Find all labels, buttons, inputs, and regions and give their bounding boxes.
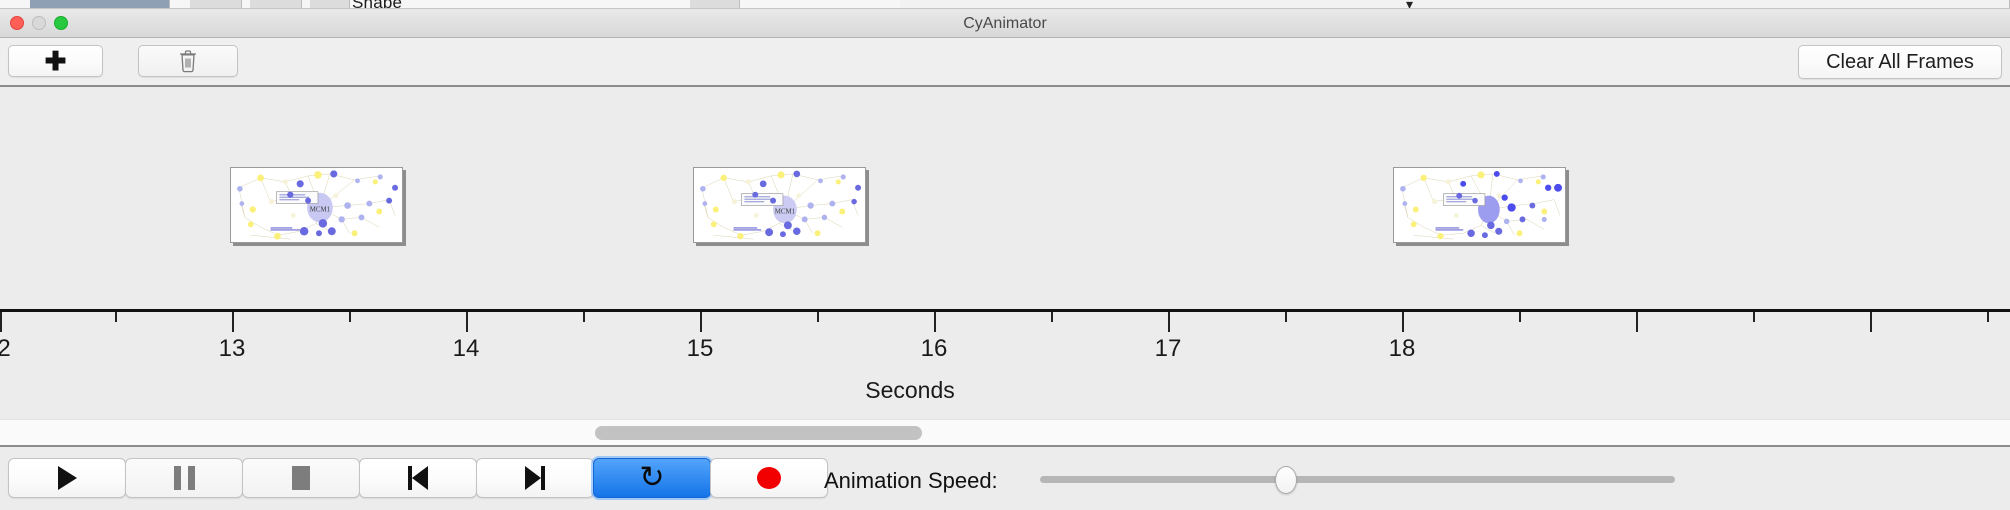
axis-tick-major — [1168, 312, 1170, 332]
axis-tick-minor — [1285, 312, 1287, 322]
axis-tick-label: 15 — [687, 335, 714, 363]
axis-tick-minor — [1753, 312, 1755, 322]
axis-title: Seconds — [0, 377, 1820, 404]
timeline-panel[interactable]: MCM1 — [0, 87, 2010, 417]
loop-icon: ↻ — [639, 463, 664, 493]
toolbar: ✚ Clear All Frames — [0, 38, 2010, 85]
delete-frame-button[interactable] — [138, 45, 238, 77]
slider-thumb[interactable] — [1275, 466, 1297, 494]
scrollbar-thumb[interactable] — [595, 426, 922, 440]
timeline-frame-thumbnail[interactable] — [1393, 167, 1566, 243]
axis-tick-major — [232, 312, 234, 332]
window-title: CyAnimator — [0, 9, 2010, 38]
animation-speed-label: Animation Speed: — [824, 468, 998, 494]
loop-button[interactable]: ↻ — [593, 458, 711, 498]
axis-tick-label: 17 — [1155, 335, 1182, 363]
network-thumbnail-graphic — [1394, 168, 1565, 243]
background-tab — [690, 0, 740, 9]
record-button[interactable] — [710, 458, 828, 498]
skip-back-icon — [408, 466, 428, 490]
timeline-horizontal-scrollbar[interactable] — [0, 419, 2010, 445]
axis-tick-major — [700, 312, 702, 332]
skip-forward-icon — [525, 466, 545, 490]
pause-icon — [174, 466, 195, 490]
axis-tick-major — [1402, 312, 1404, 332]
axis-tick-label: 16 — [921, 335, 948, 363]
record-icon — [757, 467, 781, 489]
background-window-label: Shape — [352, 0, 402, 9]
stop-button[interactable] — [242, 458, 360, 498]
axis-tick-label: 2 — [0, 335, 11, 363]
play-icon — [58, 466, 77, 490]
axis-tick-major — [1870, 312, 1872, 332]
axis-tick-label: 13 — [219, 335, 246, 363]
skip-to-start-button[interactable] — [359, 458, 477, 498]
stop-icon — [292, 466, 310, 490]
svg-text:MCM1: MCM1 — [775, 208, 796, 215]
timeline-frame-thumbnail[interactable]: MCM1 — [230, 167, 403, 243]
window-titlebar: CyAnimator — [0, 9, 2010, 38]
background-tab-selected — [30, 0, 170, 9]
background-tab — [900, 0, 2010, 9]
background-tab — [250, 0, 302, 9]
trash-icon — [178, 49, 198, 73]
axis-tick-minor — [1051, 312, 1053, 322]
axis-tick-label: 14 — [453, 335, 480, 363]
animation-speed-slider[interactable] — [1040, 469, 1675, 489]
playback-control-bar: ↻ Animation Speed: — [0, 447, 2010, 510]
axis-tick-minor — [1519, 312, 1521, 322]
axis-tick-minor — [349, 312, 351, 322]
slider-track — [1040, 476, 1675, 483]
play-button[interactable] — [8, 458, 126, 498]
axis-tick-major — [1636, 312, 1638, 332]
background-tab — [190, 0, 242, 9]
axis-tick-major — [0, 312, 2, 332]
chevron-icon: ▾ — [1406, 0, 1413, 9]
add-frame-button[interactable]: ✚ — [8, 45, 103, 77]
axis-tick-major — [934, 312, 936, 332]
network-thumbnail-graphic: MCM1 — [694, 168, 865, 243]
timeline-axis-line — [0, 309, 2010, 312]
network-thumbnail-graphic: MCM1 — [231, 168, 402, 243]
clear-all-frames-label: Clear All Frames — [1826, 51, 1974, 74]
skip-to-end-button[interactable] — [476, 458, 594, 498]
clear-all-frames-button[interactable]: Clear All Frames — [1798, 45, 2002, 79]
axis-tick-minor — [1987, 312, 1989, 322]
axis-tick-label: 18 — [1389, 335, 1416, 363]
axis-tick-minor — [115, 312, 117, 322]
svg-text:MCM1: MCM1 — [310, 206, 331, 213]
background-window-strip: Shape ▾ — [0, 0, 2010, 9]
axis-tick-major — [466, 312, 468, 332]
plus-icon: ✚ — [45, 48, 67, 74]
axis-tick-minor — [817, 312, 819, 322]
background-tab — [310, 0, 350, 9]
axis-tick-minor — [583, 312, 585, 322]
timeline-frame-thumbnail[interactable]: MCM1 — [693, 167, 866, 243]
pause-button[interactable] — [125, 458, 243, 498]
